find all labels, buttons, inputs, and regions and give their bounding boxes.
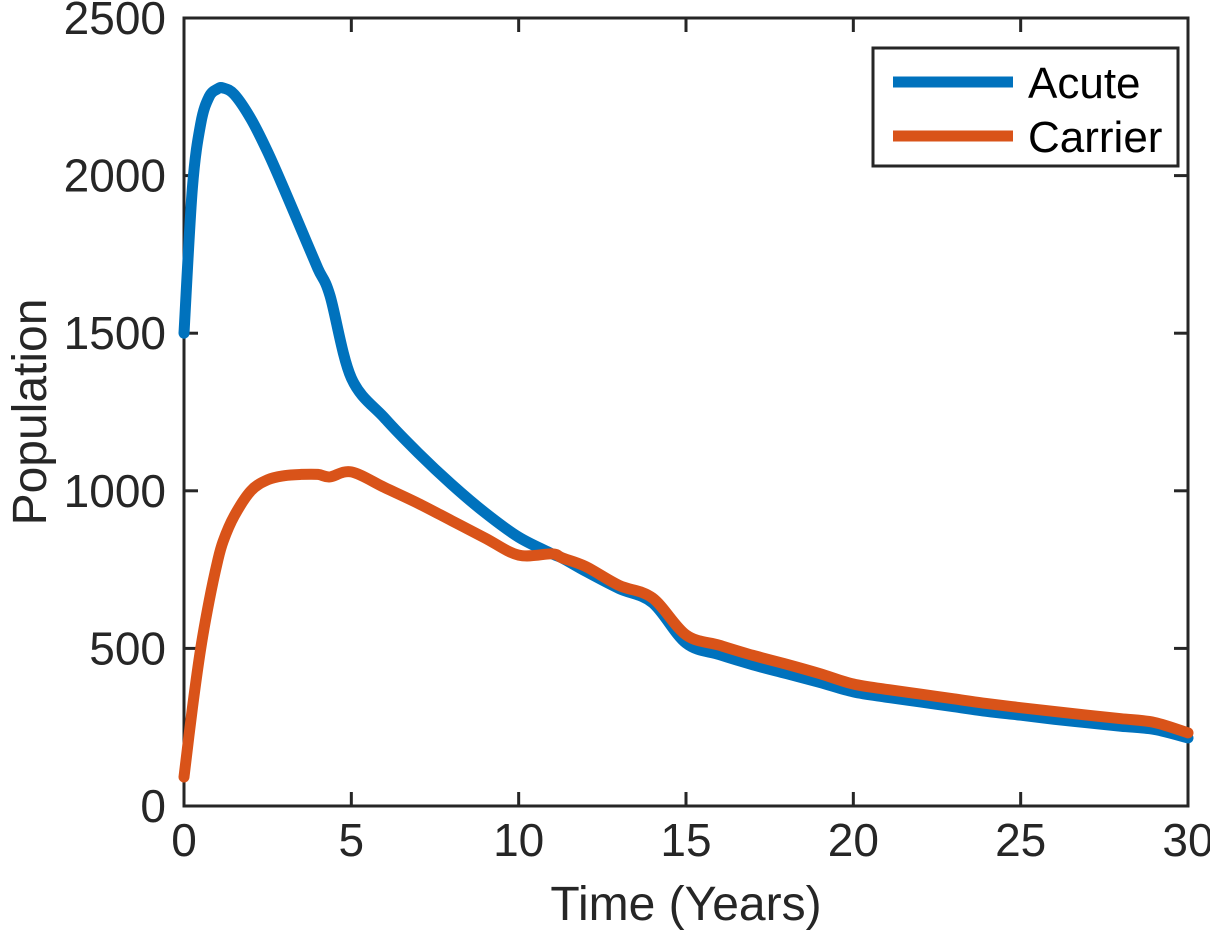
y-tick-label-0: 0 xyxy=(140,780,166,832)
x-tick-label-30: 30 xyxy=(1162,814,1210,866)
x-tick-label-0: 0 xyxy=(171,814,197,866)
y-tick-label-2000: 2000 xyxy=(64,150,166,202)
x-tick-label-25: 25 xyxy=(995,814,1046,866)
chart-legend[interactable]: AcuteCarrier xyxy=(873,48,1178,166)
y-axis-title: Population xyxy=(4,299,57,526)
y-tick-label-1500: 1500 xyxy=(64,307,166,359)
legend-label-carrier[interactable]: Carrier xyxy=(1028,113,1162,162)
x-tick-label-15: 15 xyxy=(660,814,711,866)
x-tick-label-10: 10 xyxy=(493,814,544,866)
population-line-chart: 051015202530 05001000150020002500 Time (… xyxy=(0,0,1210,942)
x-axis-title: Time (Years) xyxy=(550,878,821,931)
legend-label-acute[interactable]: Acute xyxy=(1028,59,1141,108)
y-tick-label-2500: 2500 xyxy=(64,0,166,44)
x-tick-label-20: 20 xyxy=(828,814,879,866)
x-tick-label-5: 5 xyxy=(339,814,365,866)
figure-container: 051015202530 05001000150020002500 Time (… xyxy=(0,0,1210,942)
y-tick-label-500: 500 xyxy=(89,622,166,674)
y-tick-label-1000: 1000 xyxy=(64,465,166,517)
